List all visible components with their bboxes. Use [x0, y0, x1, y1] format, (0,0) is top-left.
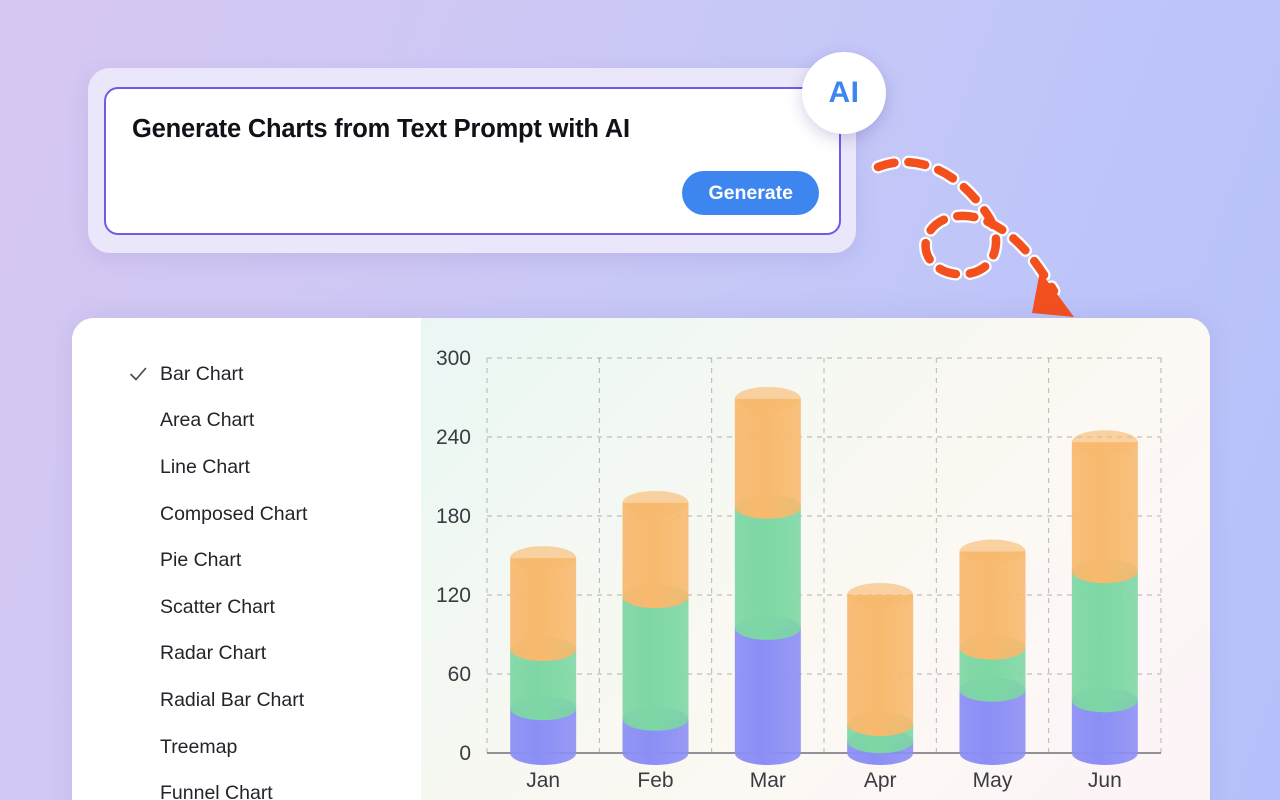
y-axis-tick: 300	[436, 347, 471, 370]
x-axis-tick: Jan	[526, 769, 560, 792]
dashed-curved-arrow-icon	[868, 145, 1103, 330]
chart-type-item-bar-chart[interactable]: Bar Chart	[72, 351, 421, 398]
bar-jan	[510, 546, 576, 765]
chart-type-label: Radial Bar Chart	[160, 689, 304, 712]
x-axis-tick: Jun	[1088, 769, 1122, 792]
bar-segment-cap	[847, 583, 913, 607]
x-axis-tick: Feb	[637, 769, 673, 792]
chart-type-item-treemap[interactable]: Treemap	[72, 724, 421, 771]
chart-type-label: Composed Chart	[160, 503, 307, 526]
y-axis-tick: 240	[436, 426, 471, 449]
bar-may	[960, 540, 1026, 765]
ai-badge: AI	[802, 52, 886, 134]
bar-segment-cap	[510, 546, 576, 570]
y-axis-tick: 60	[448, 663, 471, 686]
y-axis-tick: 120	[436, 584, 471, 607]
chart-type-item-composed-chart[interactable]: Composed Chart	[72, 491, 421, 538]
bar-segment	[735, 507, 801, 640]
bar-mar	[735, 387, 801, 765]
chart-type-list: Bar ChartArea ChartLine ChartComposed Ch…	[72, 318, 421, 800]
bar-segment	[735, 628, 801, 765]
bar-segment-cap	[735, 387, 801, 411]
chart-type-label: Area Chart	[160, 409, 254, 432]
prompt-panel: Generate Charts from Text Prompt with AI…	[88, 68, 856, 253]
ai-badge-label: AI	[829, 76, 860, 110]
y-axis-tick: 0	[459, 742, 471, 765]
chart-type-label: Line Chart	[160, 456, 250, 479]
chart-type-label: Radar Chart	[160, 642, 266, 665]
bar-jun	[1072, 430, 1138, 765]
chart-type-item-scatter-chart[interactable]: Scatter Chart	[72, 584, 421, 631]
x-axis-tick: Apr	[864, 769, 897, 792]
bar-segment-cap	[960, 540, 1026, 564]
chart-type-item-radar-chart[interactable]: Radar Chart	[72, 631, 421, 678]
chart-type-label: Funnel Chart	[160, 782, 273, 800]
bar-chart: 060120180240300JanFebMarAprMayJun	[421, 318, 1210, 800]
bar-segment	[735, 399, 801, 519]
chart-type-item-radial-bar-chart[interactable]: Radial Bar Chart	[72, 677, 421, 724]
chart-type-label: Scatter Chart	[160, 596, 275, 619]
bar-segment	[1072, 442, 1138, 583]
chart-type-label: Pie Chart	[160, 549, 241, 572]
bar-segment	[1072, 571, 1138, 712]
bar-segment-cap	[1072, 430, 1138, 454]
prompt-text: Generate Charts from Text Prompt with AI	[132, 115, 630, 144]
chart-type-item-funnel-chart[interactable]: Funnel Chart	[72, 770, 421, 800]
chart-type-label: Treemap	[160, 736, 237, 759]
prompt-input-box[interactable]: Generate Charts from Text Prompt with AI…	[104, 87, 841, 235]
chart-type-item-line-chart[interactable]: Line Chart	[72, 444, 421, 491]
bar-segment-cap	[623, 491, 689, 515]
chart-panel: 060120180240300JanFebMarAprMayJun	[421, 318, 1210, 800]
chart-type-label: Bar Chart	[160, 363, 243, 386]
x-axis-tick: Mar	[750, 769, 786, 792]
y-axis-tick: 180	[436, 505, 471, 528]
x-axis-tick: May	[973, 769, 1013, 792]
bar-segment	[623, 596, 689, 730]
chart-type-item-pie-chart[interactable]: Pie Chart	[72, 537, 421, 584]
result-card: Bar ChartArea ChartLine ChartComposed Ch…	[72, 318, 1210, 800]
check-icon	[128, 364, 148, 384]
bar-feb	[623, 491, 689, 765]
bar-segment	[510, 558, 576, 661]
bar-segment	[847, 595, 913, 736]
chart-type-item-area-chart[interactable]: Area Chart	[72, 398, 421, 445]
bar-segment	[623, 503, 689, 608]
bar-apr	[847, 583, 913, 765]
bar-segment	[960, 552, 1026, 660]
generate-button[interactable]: Generate	[682, 171, 819, 215]
